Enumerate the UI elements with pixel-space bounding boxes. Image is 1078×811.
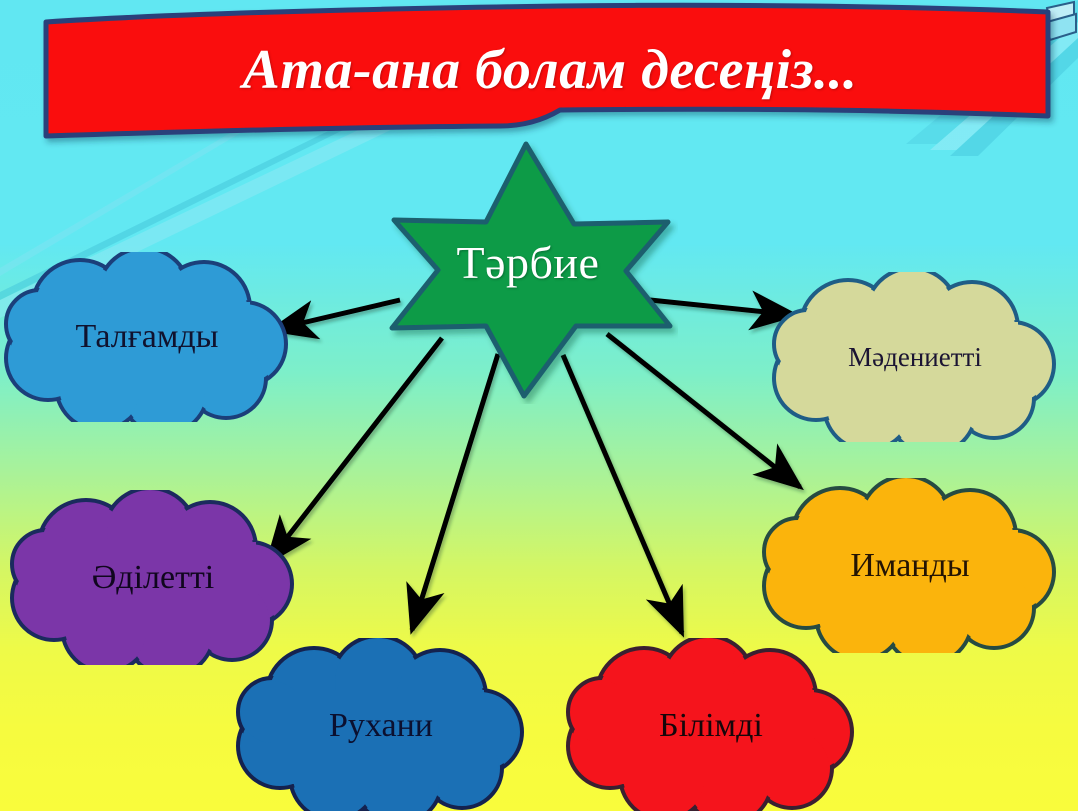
- cloud-shape: [772, 272, 1058, 442]
- cloud-shape: [760, 478, 1060, 653]
- title-banner: Ата-ана болам десеңіз...: [0, 0, 1078, 150]
- central-node-label: Тәрбие: [378, 236, 678, 289]
- slide-canvas: Ата-ана болам десеңіз...: [0, 0, 1078, 811]
- node-cloud-talgamdy[interactable]: Талғамды: [4, 252, 290, 422]
- node-cloud-imandy[interactable]: Иманды: [760, 478, 1060, 653]
- node-cloud-madenietti[interactable]: Мәдениетті: [772, 272, 1058, 442]
- cloud-shape: [236, 638, 526, 811]
- node-cloud-bilimdi[interactable]: Білімді: [566, 638, 856, 811]
- node-cloud-ruhani[interactable]: Рухани: [236, 638, 526, 811]
- central-node-star[interactable]: Тәрбие: [378, 136, 678, 404]
- cloud-shape: [566, 638, 856, 811]
- cloud-shape: [4, 252, 290, 422]
- page-title: Ата-ана болам десеңіз...: [60, 38, 1040, 102]
